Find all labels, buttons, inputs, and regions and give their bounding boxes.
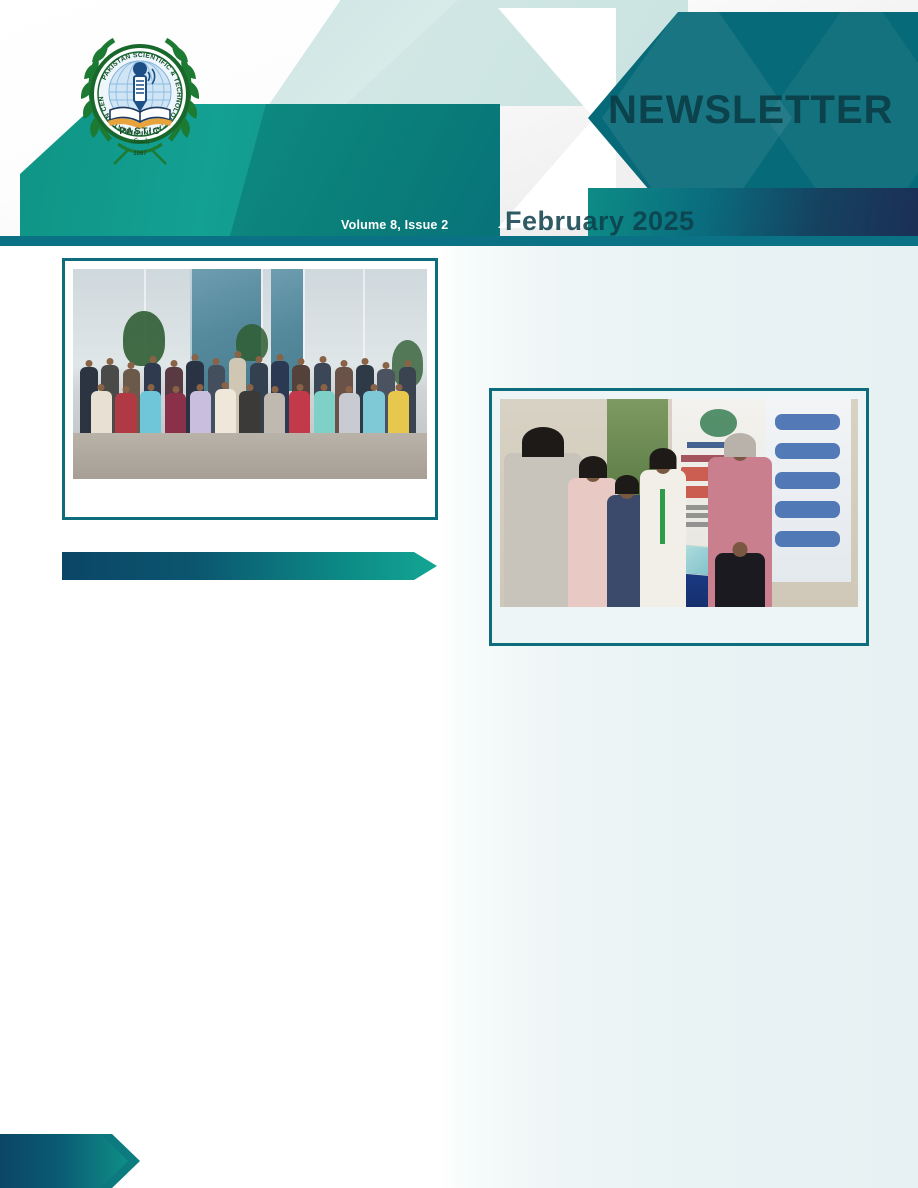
header-teal-hexagon-shade (230, 104, 500, 236)
exhibition-photo (500, 399, 858, 607)
section-heading-banner (62, 552, 437, 580)
volume-issue-label: Volume 8, Issue 2 (341, 218, 448, 232)
page-title: NEWSLETTER (608, 88, 898, 133)
photo-ground (73, 433, 427, 479)
svg-text:1967: 1967 (133, 151, 147, 157)
header-divider-rule (0, 236, 918, 246)
photo-info-poster (765, 399, 851, 582)
svg-text:PASTIC: PASTIC (119, 126, 160, 137)
exhibition-photo-frame (489, 388, 869, 646)
pastic-logo: PAKISTAN SCIENTIFIC & TECHNOLOGICAL INFO… (70, 22, 210, 170)
group-photo-caption (73, 479, 427, 513)
issue-date-label: February 2025 (505, 206, 695, 237)
exhibition-photo-caption (500, 607, 858, 641)
group-photo (73, 269, 427, 479)
group-photo-frame (62, 258, 438, 520)
svg-text:پاستک: پاستک (131, 137, 149, 145)
photo-crowd (73, 328, 427, 437)
